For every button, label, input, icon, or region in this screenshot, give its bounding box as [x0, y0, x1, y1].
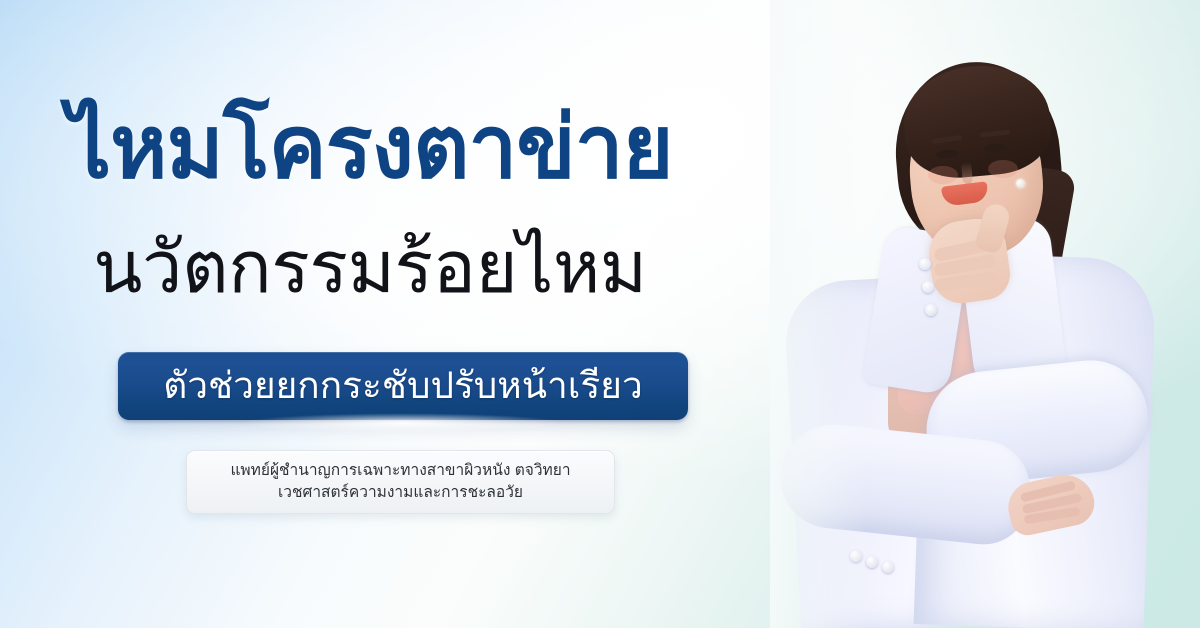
- nose: [961, 162, 973, 185]
- highlight-banner-pill: ตัวช่วยยกกระชับปรับหน้าเรียว: [118, 352, 688, 420]
- banner-canvas: ไหมโครงตาข่าย นวัตกรรมร้อยไหม ตัวช่วยยกก…: [0, 0, 1200, 628]
- coat-button-1: [919, 258, 931, 270]
- credentials-line-1: แพทย์ผู้ชำนาญการเฉพาะทางสาขาผิวหนัง ตจวิ…: [230, 460, 570, 482]
- headline-primary: ไหมโครงตาข่าย: [0, 104, 740, 191]
- cuff-button-1: [850, 550, 862, 562]
- credentials-line-2: เวชศาสตร์ความงามและการชะลอวัย: [278, 482, 523, 504]
- text-block: ไหมโครงตาข่าย นวัตกรรมร้อยไหม ตัวช่วยยกก…: [0, 0, 760, 628]
- highlight-banner: ตัวช่วยยกกระชับปรับหน้าเรียว: [118, 352, 688, 420]
- doctor-photo: [770, 0, 1200, 628]
- cheek-left: [928, 166, 958, 184]
- earring: [1016, 179, 1025, 188]
- cuff-button-3: [882, 561, 894, 573]
- cheek-right: [988, 160, 1018, 178]
- coat-button-2: [922, 281, 934, 293]
- credentials-box: แพทย์ผู้ชำนาญการเฉพาะทางสาขาผิวหนัง ตจวิ…: [186, 450, 615, 514]
- coat-button-3: [925, 304, 937, 316]
- headline-secondary: นวัตกรรมร้อยไหม: [0, 232, 740, 304]
- cuff-button-2: [866, 556, 878, 568]
- highlight-banner-label: ตัวช่วยยกกระชับปรับหน้าเรียว: [163, 367, 642, 404]
